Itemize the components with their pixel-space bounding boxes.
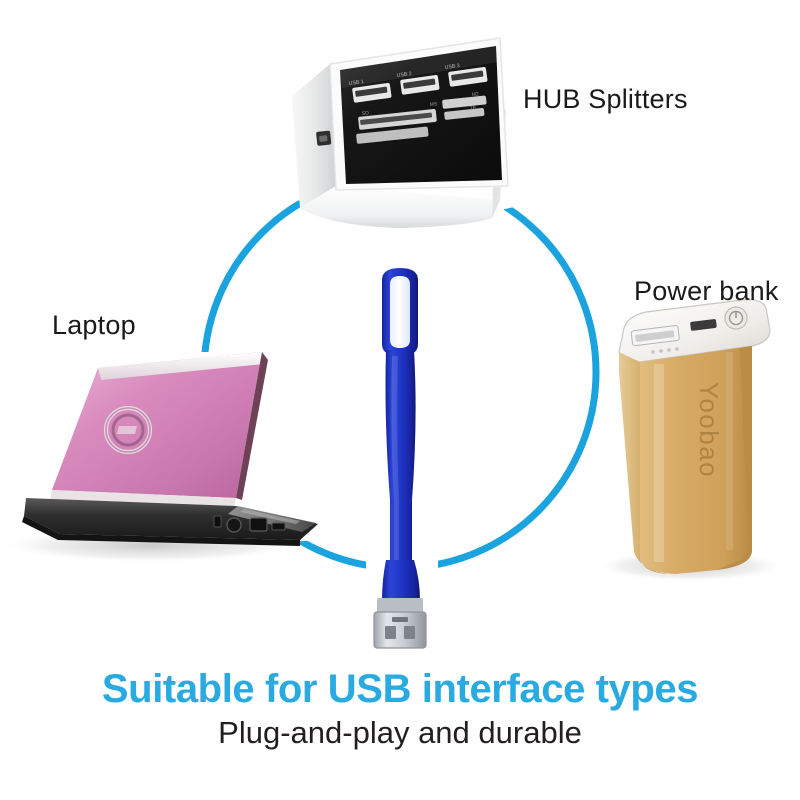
svg-text:MS: MS xyxy=(430,101,439,108)
lamp-light-panel xyxy=(390,276,410,348)
usb-hub-device: USB 1 USB 2 USB 3 SD MS M2 TF xyxy=(292,38,508,228)
power-bank-power-button xyxy=(725,307,747,329)
power-bank-brand: Yoobao xyxy=(694,382,724,478)
lamp-usb-connector xyxy=(374,598,426,648)
hub-side-socket xyxy=(316,131,331,146)
power-bank-device: Yoobao xyxy=(594,300,786,582)
label-laptop: Laptop xyxy=(52,310,136,341)
infographic-canvas: USB 1 USB 2 USB 3 SD MS M2 TF xyxy=(0,0,800,800)
label-power-bank: Power bank xyxy=(634,276,779,307)
svg-text:SD: SD xyxy=(362,110,370,117)
laptop-device xyxy=(0,352,318,563)
lamp-neck xyxy=(386,350,416,596)
usb-led-lamp xyxy=(374,268,426,648)
svg-text:TF: TF xyxy=(470,105,477,112)
subtitle-text: Plug-and-play and durable xyxy=(0,716,800,750)
caption-block: Suitable for USB interface types Plug-an… xyxy=(0,668,800,750)
label-hub-splitters: HUB Splitters xyxy=(523,84,688,115)
svg-text:M2: M2 xyxy=(472,91,480,98)
laptop-logo xyxy=(106,408,150,452)
headline-text: Suitable for USB interface types xyxy=(0,668,800,710)
